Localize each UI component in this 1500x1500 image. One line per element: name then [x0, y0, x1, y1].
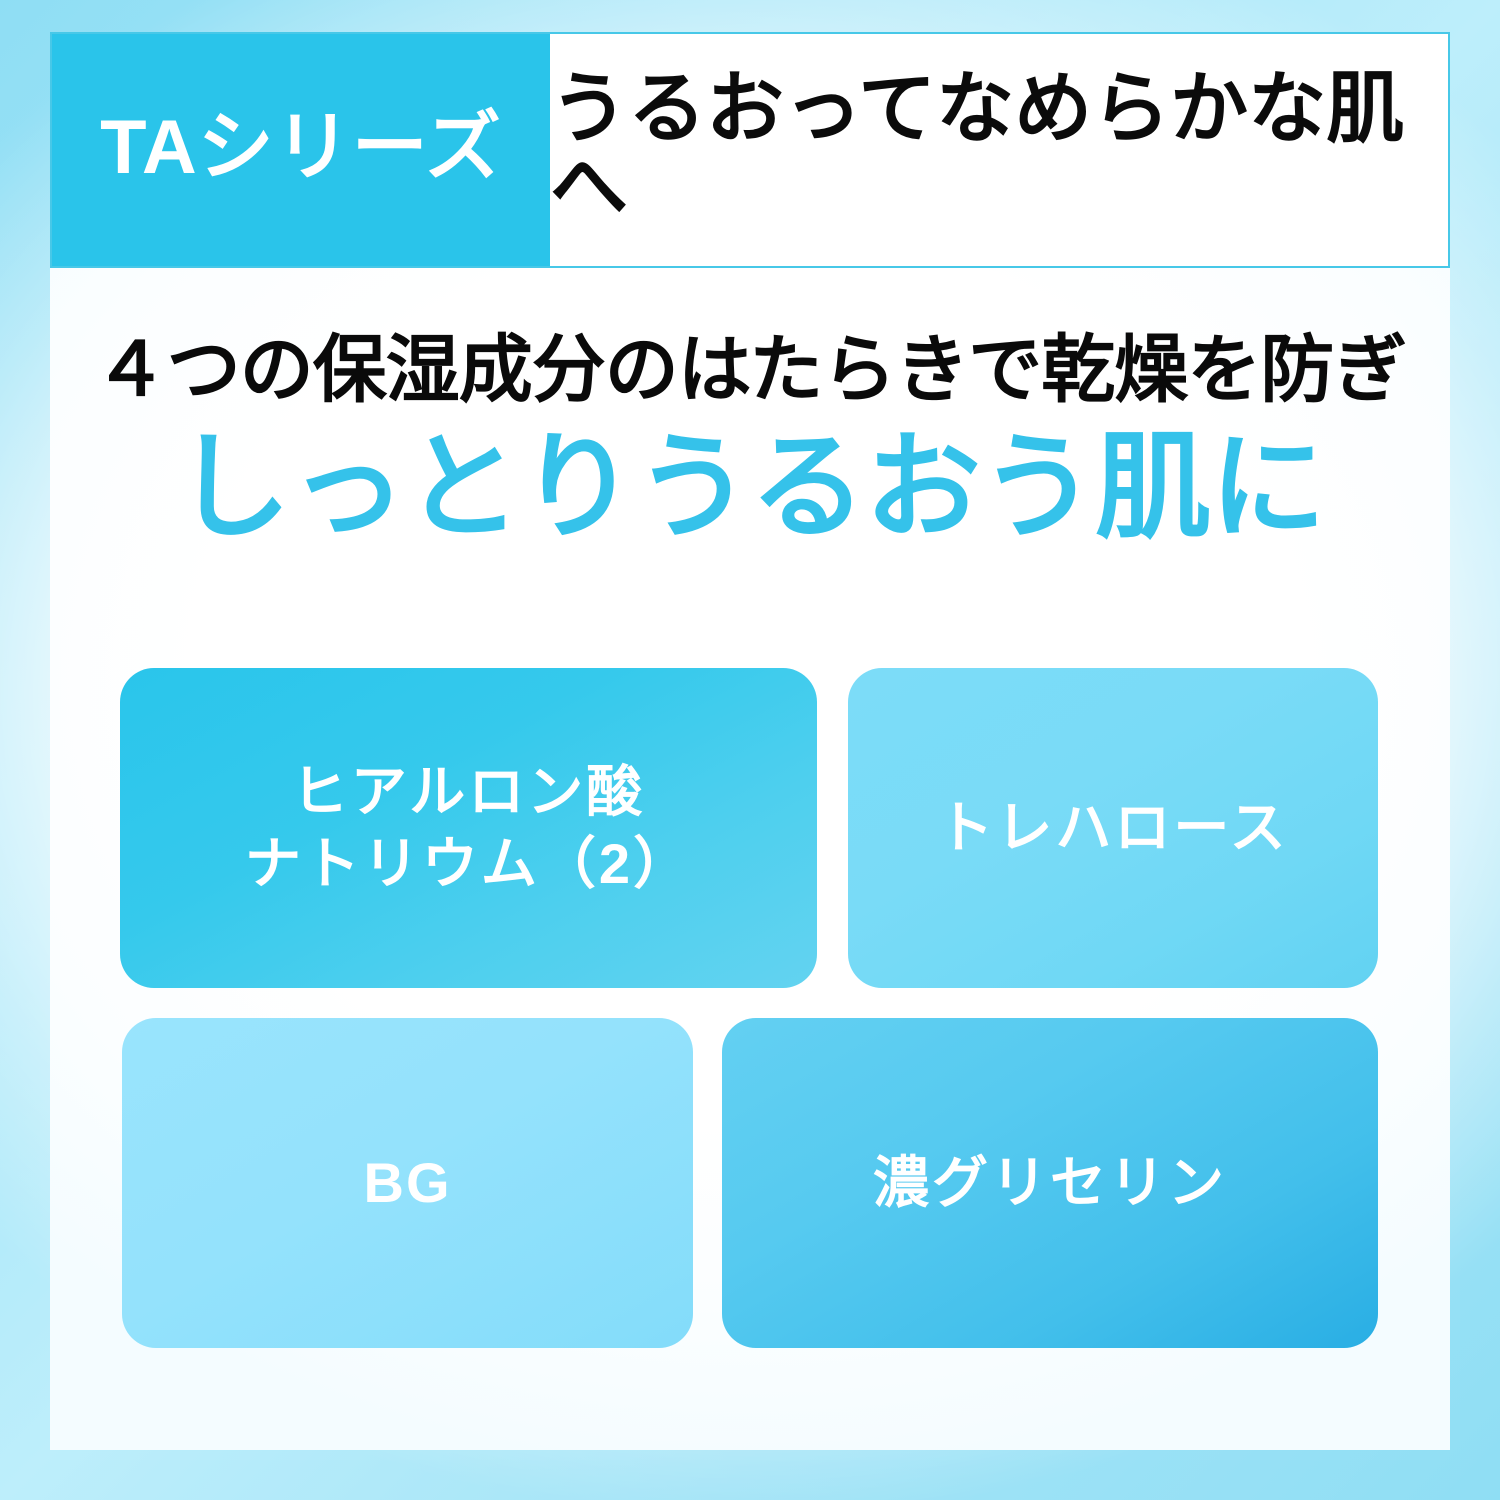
ingredient-card-trehalose[interactable]: トレハロース [848, 668, 1378, 988]
headline-accent: しっとりうるおう肌に [50, 426, 1450, 549]
series-badge: TAシリーズ [52, 34, 550, 266]
promo-canvas: TAシリーズ うるおってなめらかな肌へ ４つの保湿成分のはたらきで乾燥を防ぎ し… [0, 0, 1500, 1500]
ingredient-label: トレハロース [937, 792, 1288, 864]
ingredient-card-bg[interactable]: BG [122, 1018, 693, 1348]
ingredient-label: ヒアルロン酸 ナトリウム（2） [245, 756, 692, 899]
ingredient-label: 濃グリセリン [873, 1147, 1227, 1219]
headline-primary: ４つの保湿成分のはたらきで乾燥を防ぎ [50, 330, 1450, 410]
ingredient-label: BG [364, 1147, 452, 1219]
header-bar: TAシリーズ うるおってなめらかな肌へ [50, 32, 1450, 268]
headline-block: ４つの保湿成分のはたらきで乾燥を防ぎ しっとりうるおう肌に [50, 330, 1450, 549]
header-tagline: うるおってなめらかな肌へ [550, 34, 1448, 266]
ingredient-card-concentrated-glycerin[interactable]: 濃グリセリン [722, 1018, 1378, 1348]
ingredient-card-hyaluronic-acid[interactable]: ヒアルロン酸 ナトリウム（2） [120, 668, 817, 988]
